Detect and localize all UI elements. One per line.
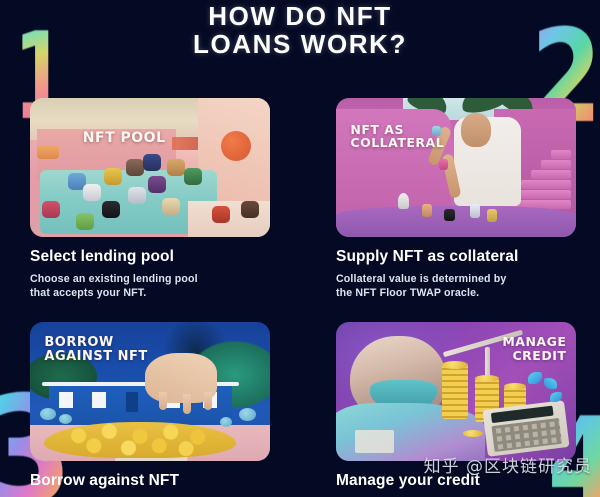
step-card-4-image: MANAGE CREDIT <box>336 322 576 461</box>
step-card-2-description-line2: the NFT Floor TWAP oracle. <box>336 287 576 301</box>
step-card-1-image-caption: NFT POOL <box>83 131 166 146</box>
step-card-borrow-against-nft[interactable]: BORROW AGAINST NFT Borrow against NFT <box>30 322 270 490</box>
steps-grid: NFT POOL Select lending pool Choose an e… <box>30 98 570 490</box>
step-card-2-description-line1: Collateral value is determined by <box>336 273 576 287</box>
steps-row-top: NFT POOL Select lending pool Choose an e… <box>30 98 570 300</box>
step-card-2-image-caption-line2: COLLATERAL <box>350 136 444 149</box>
zhihu-watermark: 知乎 @区块链研究员 <box>424 452 592 477</box>
step-card-1-image-caption-line1: NFT <box>83 130 115 146</box>
step-card-4-image-caption-line2: CREDIT <box>502 349 566 364</box>
step-card-3-image-caption-line2: AGAINST NFT <box>44 350 147 364</box>
orange-circle-decor <box>221 131 251 161</box>
infographic-canvas: 1 2 3 4 HOW DO NFT LOANS WORK? <box>0 0 600 497</box>
page-title: HOW DO NFT LOANS WORK? <box>0 2 600 58</box>
step-card-1-description-line1: Choose an existing lending pool <box>30 273 270 287</box>
step-card-3-image-caption-line1: BORROW <box>44 336 147 350</box>
gold-coins-pile <box>44 422 236 458</box>
step-card-select-lending-pool[interactable]: NFT POOL Select lending pool Choose an e… <box>30 98 270 300</box>
step-card-2-image: NFT AS COLLATERAL <box>336 98 576 237</box>
step-card-2-title: Supply NFT as collateral <box>336 248 576 266</box>
page-title-line1: HOW DO NFT <box>208 1 392 31</box>
step-card-3-image-caption: BORROW AGAINST NFT <box>44 336 147 363</box>
step-card-2-image-caption: NFT AS COLLATERAL <box>350 123 444 149</box>
step-card-3-image: BORROW AGAINST NFT <box>30 322 270 461</box>
page-title-line2: LOANS WORK? <box>0 30 600 58</box>
step-card-2-description: Collateral value is determined by the NF… <box>336 273 576 300</box>
step-card-4-image-caption: MANAGE CREDIT <box>502 335 566 365</box>
calculator-decor <box>482 401 569 458</box>
step-card-3-title: Borrow against NFT <box>30 472 270 490</box>
step-card-1-title: Select lending pool <box>30 248 270 266</box>
step-card-1-description-line2: that accepts your NFT. <box>30 287 270 301</box>
step-card-1-description: Choose an existing lending pool that acc… <box>30 273 270 300</box>
step-card-1-image: NFT POOL <box>30 98 270 237</box>
step-card-supply-nft-as-collateral[interactable]: NFT AS COLLATERAL Supply NFT as collater… <box>336 98 576 300</box>
step-card-1-image-caption-line2: POOL <box>121 130 166 146</box>
